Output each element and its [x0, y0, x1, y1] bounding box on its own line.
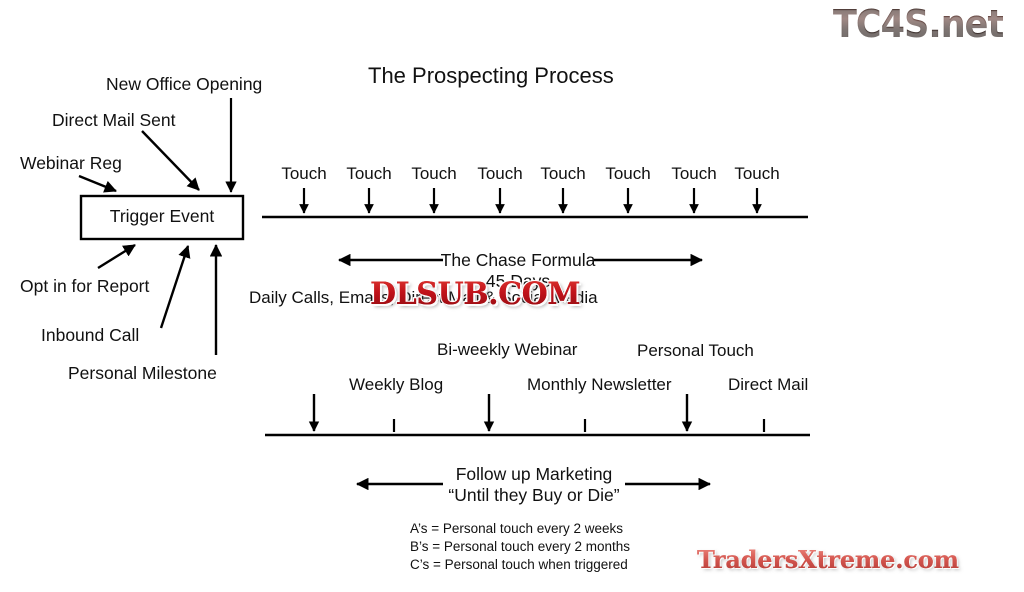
diagram-title: The Prospecting Process — [368, 63, 614, 89]
input-label-new-office-opening: New Office Opening — [106, 74, 262, 95]
watermark-dlsub: DLSUB.COM — [370, 276, 580, 312]
touch-label-8: Touch — [722, 164, 792, 184]
watermark-tradersxtreme: TradersXtreme.com — [697, 545, 959, 574]
trigger-event-label: Trigger Event — [81, 206, 243, 227]
followup-marketing-tagline: “Until they Buy or Die” — [428, 485, 640, 506]
legend-item-a: A’s = Personal touch every 2 weeks — [410, 521, 623, 537]
legend-item-c: C’s = Personal touch when triggered — [410, 557, 628, 573]
touch-label-6: Touch — [593, 164, 663, 184]
stage-label-personal-touch: Personal Touch — [637, 341, 737, 361]
touch-label-2: Touch — [334, 164, 404, 184]
diagram-canvas: The Prospecting Process Trigger Event Ne… — [0, 0, 1024, 592]
input-label-inbound-call: Inbound Call — [41, 325, 139, 346]
arrow-webinar-reg — [79, 176, 116, 191]
input-label-personal-milestone: Personal Milestone — [68, 363, 217, 384]
arrow-inbound-call — [161, 246, 188, 328]
arrow-opt-in-for-report — [98, 245, 135, 268]
stage-label-weekly-blog: Weekly Blog — [349, 375, 439, 395]
stage-label-direct-mail: Direct Mail — [728, 375, 802, 395]
touch-label-3: Touch — [399, 164, 469, 184]
followup-marketing-label: Follow up Marketing — [428, 464, 640, 485]
watermark-tc4s: TC4S.net — [833, 2, 1003, 46]
touch-label-1: Touch — [269, 164, 339, 184]
legend-item-b: B’s = Personal touch every 2 months — [410, 539, 630, 555]
chase-formula-label: The Chase Formula — [398, 250, 638, 271]
arrow-direct-mail-sent — [142, 131, 199, 190]
input-label-webinar-reg: Webinar Reg — [20, 153, 122, 174]
touch-label-4: Touch — [465, 164, 535, 184]
stage-label-monthly-newsletter: Monthly Newsletter — [527, 375, 645, 395]
input-label-opt-in-for-report: Opt in for Report — [20, 276, 149, 297]
stage-label-daily-calls: Daily Calls, Emails, Direct Mail & Socia… — [249, 288, 379, 308]
touch-label-7: Touch — [659, 164, 729, 184]
touch-label-5: Touch — [528, 164, 598, 184]
stage-label-biweekly-webinar: Bi-weekly Webinar — [437, 340, 541, 360]
input-label-direct-mail-sent: Direct Mail Sent — [52, 110, 176, 131]
